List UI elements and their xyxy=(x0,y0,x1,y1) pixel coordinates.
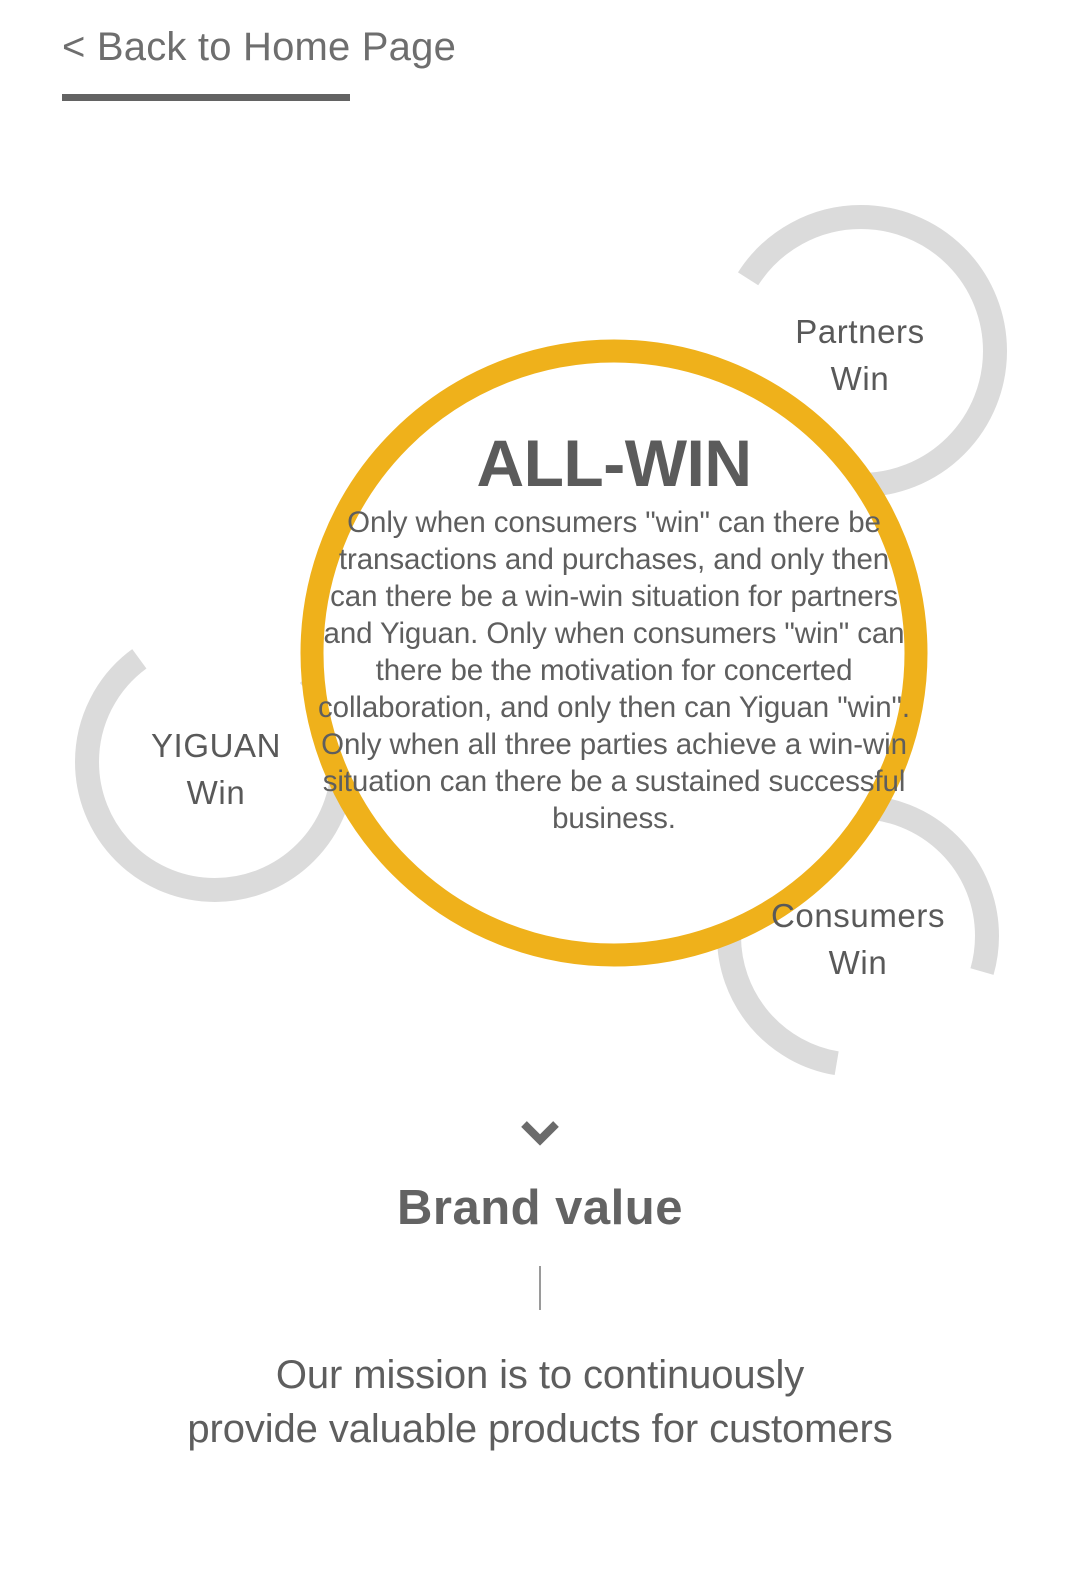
mission-statement: Our mission is to continuously provide v… xyxy=(0,1348,1080,1456)
all-win-content: ALL-WIN Only when consumers "win" can th… xyxy=(312,355,916,959)
chevron-down-icon xyxy=(519,1118,561,1148)
page-title: Brand value xyxy=(0,1180,1080,1236)
back-to-home-link[interactable]: < Back to Home Page xyxy=(62,18,582,76)
all-win-description: Only when consumers "win" can there be t… xyxy=(314,504,914,837)
brand-value-section: Brand value Our mission is to continuous… xyxy=(0,1118,1080,1456)
all-win-diagram: Partners Win YIGUAN Win Consumers Win AL… xyxy=(0,130,1080,1120)
vertical-divider xyxy=(539,1266,541,1310)
all-win-title: ALL-WIN xyxy=(476,428,751,498)
header-underline xyxy=(62,94,350,101)
breadcrumb: < Back to Home Page xyxy=(62,18,582,101)
